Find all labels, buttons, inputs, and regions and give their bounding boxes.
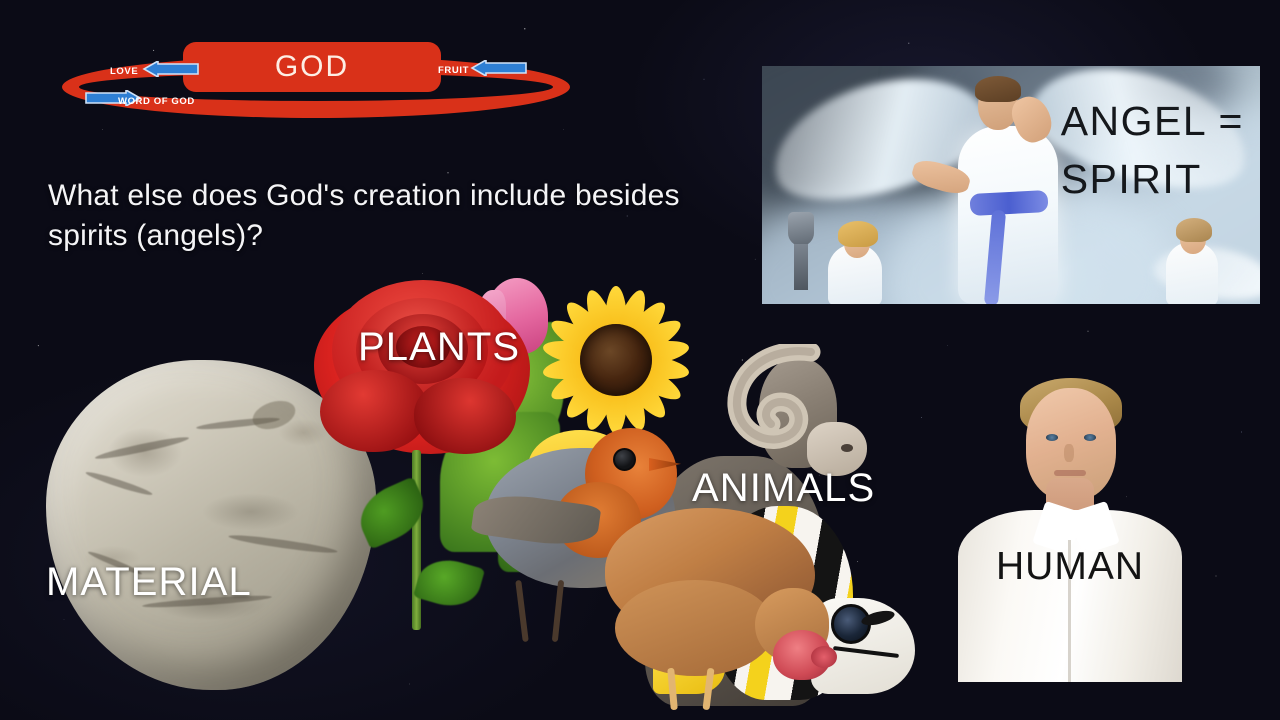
human-image: HUMAN [950,360,1190,682]
caption-plants: PLANTS [358,325,520,370]
eye-left [1046,434,1058,441]
angel-caption-line1: ANGEL = [1061,92,1244,150]
arrow-left-icon [142,61,200,77]
cycle-label-word-of-god: WORD OF GOD [118,96,195,107]
cycle-label-fruit: FRUIT [438,65,469,76]
eye-right [1084,434,1096,441]
caption-animals: ANIMALS [692,466,875,511]
cycle-label-love: LOVE [110,66,138,77]
angel-caption-line2: SPIRIT [1061,150,1244,208]
animals-image [455,330,975,710]
caption-material: MATERIAL [46,560,252,605]
god-banner-label: GOD [275,50,349,84]
ram-horn-shape [727,344,847,464]
human-caption: HUMAN [950,545,1190,589]
god-cycle-diagram: GOD LOVE FRUIT WORD OF GOD [58,20,578,120]
angel-equals-spirit-caption: ANGEL = SPIRIT [1061,92,1244,208]
arrow-left-icon [470,60,528,76]
angel-image-panel: ANGEL = SPIRIT [762,66,1260,304]
slide-canvas: GOD LOVE FRUIT WORD OF GOD What else doe… [0,0,1280,720]
god-banner: GOD [183,42,441,92]
question-text: What else does God's creation include be… [48,176,728,255]
